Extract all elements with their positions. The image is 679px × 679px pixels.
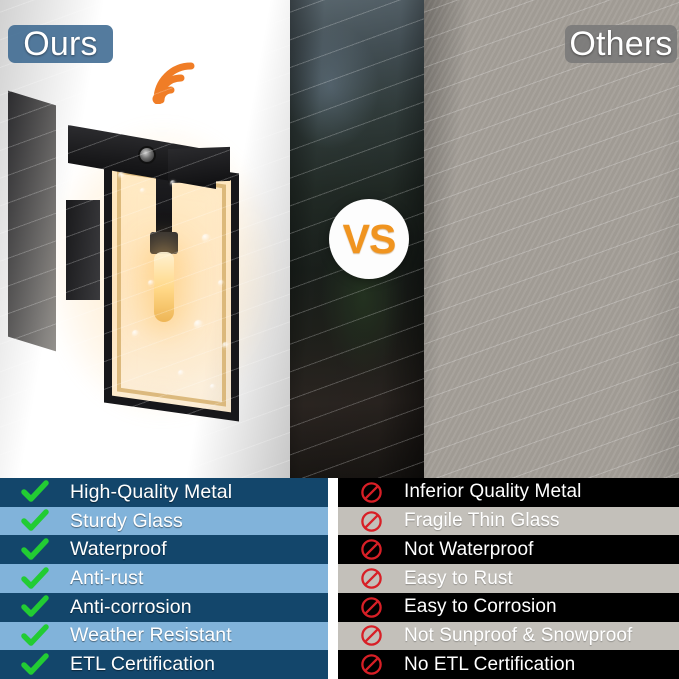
vs-label: VS [343,216,396,263]
table-row: Not Waterproof [338,535,679,564]
vs-badge: VS [329,199,409,279]
check-icon [0,624,70,648]
table-row: Anti-rust [0,564,328,593]
lamp-top-arm-secondary [168,147,230,183]
prohibition-icon [338,538,404,561]
feature-label: No ETL Certification [404,654,575,676]
feature-label: Weather Resistant [70,624,232,647]
table-row: Easy to Corrosion [338,593,679,622]
prohibition-icon [338,567,404,590]
water-droplet [140,188,145,193]
feature-label: ETL Certification [70,653,215,676]
feature-label: Inferior Quality Metal [404,481,582,503]
table-row: Sturdy Glass [0,507,328,536]
table-row: ETL Certification [0,650,328,679]
table-row: Inferior Quality Metal [338,478,679,507]
table-row: Easy to Rust [338,564,679,593]
lamp-edison-bulb [154,252,174,322]
feature-label: Sturdy Glass [70,510,183,533]
ours-product-photo [0,0,290,478]
feature-label: Easy to Rust [404,568,513,590]
photo-strip: Ours Others VS [0,0,679,478]
water-droplet [170,180,176,186]
lamp-wall-plate [66,200,100,300]
column-divider [328,478,338,679]
water-droplet [178,370,184,376]
prohibition-icon [338,510,404,533]
water-droplet [210,384,215,389]
feature-comparison-table: High-Quality Metal Sturdy Glass Waterpro… [0,478,679,679]
water-droplet [148,280,154,286]
prohibition-icon [338,624,404,647]
water-droplet [202,234,210,242]
modern-black-lantern [52,84,277,429]
check-icon [0,595,70,619]
water-droplet [222,342,229,349]
feature-label: Easy to Corrosion [404,596,557,618]
lamp-stem [156,176,172,238]
table-row: No ETL Certification [338,650,679,679]
ours-feature-column: High-Quality Metal Sturdy Glass Waterpro… [0,478,328,679]
feature-label: Anti-rust [70,567,144,590]
water-droplet [118,172,125,179]
feature-label: Not Waterproof [404,539,534,561]
feature-label: Fragile Thin Glass [404,510,560,532]
grey-stucco-wall-background [424,0,679,478]
table-row: Fragile Thin Glass [338,507,679,536]
lamp-socket [150,232,178,254]
water-droplet [218,280,224,286]
feature-label: Not Sunproof & Snowproof [404,625,632,647]
feature-label: Waterproof [70,538,167,561]
feature-label: Anti-corrosion [70,596,192,619]
prohibition-icon [338,596,404,619]
lamp-motion-sensor [138,146,156,164]
ours-badge: Ours [8,25,113,63]
prohibition-icon [338,653,404,676]
check-icon [0,653,70,677]
check-icon [0,509,70,533]
water-droplet [194,320,203,329]
table-row: Not Sunproof & Snowproof [338,622,679,651]
check-icon [0,538,70,562]
product-comparison-image: Ours Others VS High-Quality Metal Sturdy… [0,0,679,679]
water-droplet [132,330,139,337]
check-icon [0,480,70,504]
lamp-side-panel [8,91,56,352]
table-row: Waterproof [0,535,328,564]
motion-sensor-wifi-icon [147,56,205,104]
others-badge: Others [565,25,677,63]
feature-label: High-Quality Metal [70,481,232,504]
others-product-photo [424,0,679,478]
others-feature-column: Inferior Quality Metal Fragile Thin Glas… [338,478,679,679]
prohibition-icon [338,481,404,504]
table-row: High-Quality Metal [0,478,328,507]
table-row: Weather Resistant [0,622,328,651]
check-icon [0,567,70,591]
table-row: Anti-corrosion [0,593,328,622]
